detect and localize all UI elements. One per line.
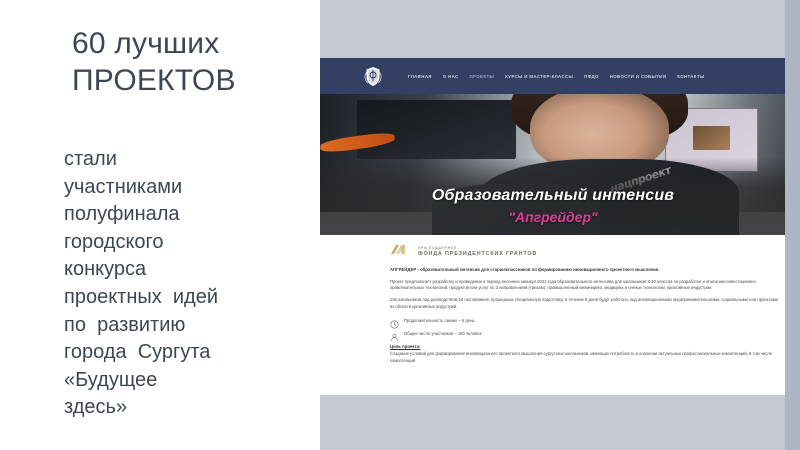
embedded-website-screenshot: ГЛАВНАЯ О НАС ПРОЕКТЫ КУРСЫ И МАСТЕР-КЛА… <box>320 0 800 450</box>
project-description-card: ПРИ ПОДДЕРЖКЕ ФОНДА ПРЕЗИДЕНТСКИХ ГРАНТО… <box>320 235 800 395</box>
screenshot-right-margin <box>785 0 800 450</box>
fact-duration: Продолжительность смены – 6 день. <box>390 316 778 325</box>
nav-item-contacts[interactable]: КОНТАКТЫ <box>677 74 704 79</box>
body-line: стали <box>64 146 314 174</box>
nav-item-projects[interactable]: ПРОЕКТЫ <box>470 74 495 79</box>
support-label-small: ПРИ ПОДДЕРЖКЕ <box>418 246 537 250</box>
grant-fund-logo-icon <box>390 243 412 260</box>
goal-heading: Цель проекта: <box>390 344 778 349</box>
body-line: участниками <box>64 174 314 202</box>
nav-item-pfdo[interactable]: ПФДО <box>584 74 599 79</box>
page-title: 60 лучших ПРОЕКТОВ <box>72 26 312 99</box>
body-line: проектных идей <box>64 284 314 312</box>
fact-participants: Общее число участников – 180 человек. <box>390 329 778 338</box>
hero-banner: нацпроект Образовательный интенсив "Апгр… <box>320 94 786 235</box>
screenshot-bottom-margin <box>320 395 800 450</box>
project-lead-paragraph: АПГРЕЙДЕР - образовательный интенсив для… <box>390 267 778 274</box>
presentation-slide: 60 лучших ПРОЕКТОВ стали участниками пол… <box>0 0 800 450</box>
screenshot-top-margin <box>320 0 800 58</box>
nav-item-home[interactable]: ГЛАВНАЯ <box>408 74 432 79</box>
nav-item-courses[interactable]: КУРСЫ И МАСТЕР-КЛАССЫ <box>505 74 573 79</box>
body-line: по развитию <box>64 312 314 340</box>
title-line-1: 60 лучших <box>72 26 312 63</box>
body-line: города Сургута <box>64 339 314 367</box>
hero-title: Образовательный интенсив <box>320 187 786 205</box>
title-line-2: ПРОЕКТОВ <box>72 63 312 100</box>
project-paragraph-2: 180 школьников под руководством 18 наста… <box>390 297 778 311</box>
site-navbar: ГЛАВНАЯ О НАС ПРОЕКТЫ КУРСЫ И МАСТЕР-КЛА… <box>320 58 800 94</box>
body-line: полуфинала <box>64 201 314 229</box>
project-paragraph-1: Проект предполагает разработку и проведе… <box>390 279 778 293</box>
photo-monitor <box>357 100 515 159</box>
body-line: городского <box>64 229 314 257</box>
body-line: конкурса <box>64 256 314 284</box>
slide-body-text: стали участниками полуфинала городского … <box>64 146 314 422</box>
body-line: «Будущее <box>64 367 314 395</box>
nav-item-about[interactable]: О НАС <box>443 74 459 79</box>
hero-subtitle: "Апгрейдер" <box>320 209 786 225</box>
fact-duration-text: Продолжительность смены – 6 день. <box>404 318 476 323</box>
fact-participants-text: Общее число участников – 180 человек. <box>404 331 483 336</box>
clock-icon <box>390 316 399 325</box>
slide-text-column: 60 лучших ПРОЕКТОВ стали участниками пол… <box>0 0 320 450</box>
support-label-big: ФОНДА ПРЕЗИДЕНТСКИХ ГРАНТОВ <box>418 251 537 257</box>
presidential-grants-support: ПРИ ПОДДЕРЖКЕ ФОНДА ПРЕЗИДЕНТСКИХ ГРАНТО… <box>390 243 778 260</box>
project-facts: Продолжительность смены – 6 день. Общее … <box>390 316 778 338</box>
nav-item-news[interactable]: НОВОСТИ И СОБЫТИЯ <box>610 74 666 79</box>
hero-caption: Образовательный интенсив "Апгрейдер" <box>320 187 786 225</box>
nav-links: ГЛАВНАЯ О НАС ПРОЕКТЫ КУРСЫ И МАСТЕР-КЛА… <box>408 74 705 79</box>
shield-emblem-icon[interactable] <box>350 65 396 87</box>
body-line: здесь» <box>64 394 314 422</box>
person-icon <box>390 329 399 338</box>
goal-paragraph: Создание условий для формирование иннова… <box>390 351 778 365</box>
